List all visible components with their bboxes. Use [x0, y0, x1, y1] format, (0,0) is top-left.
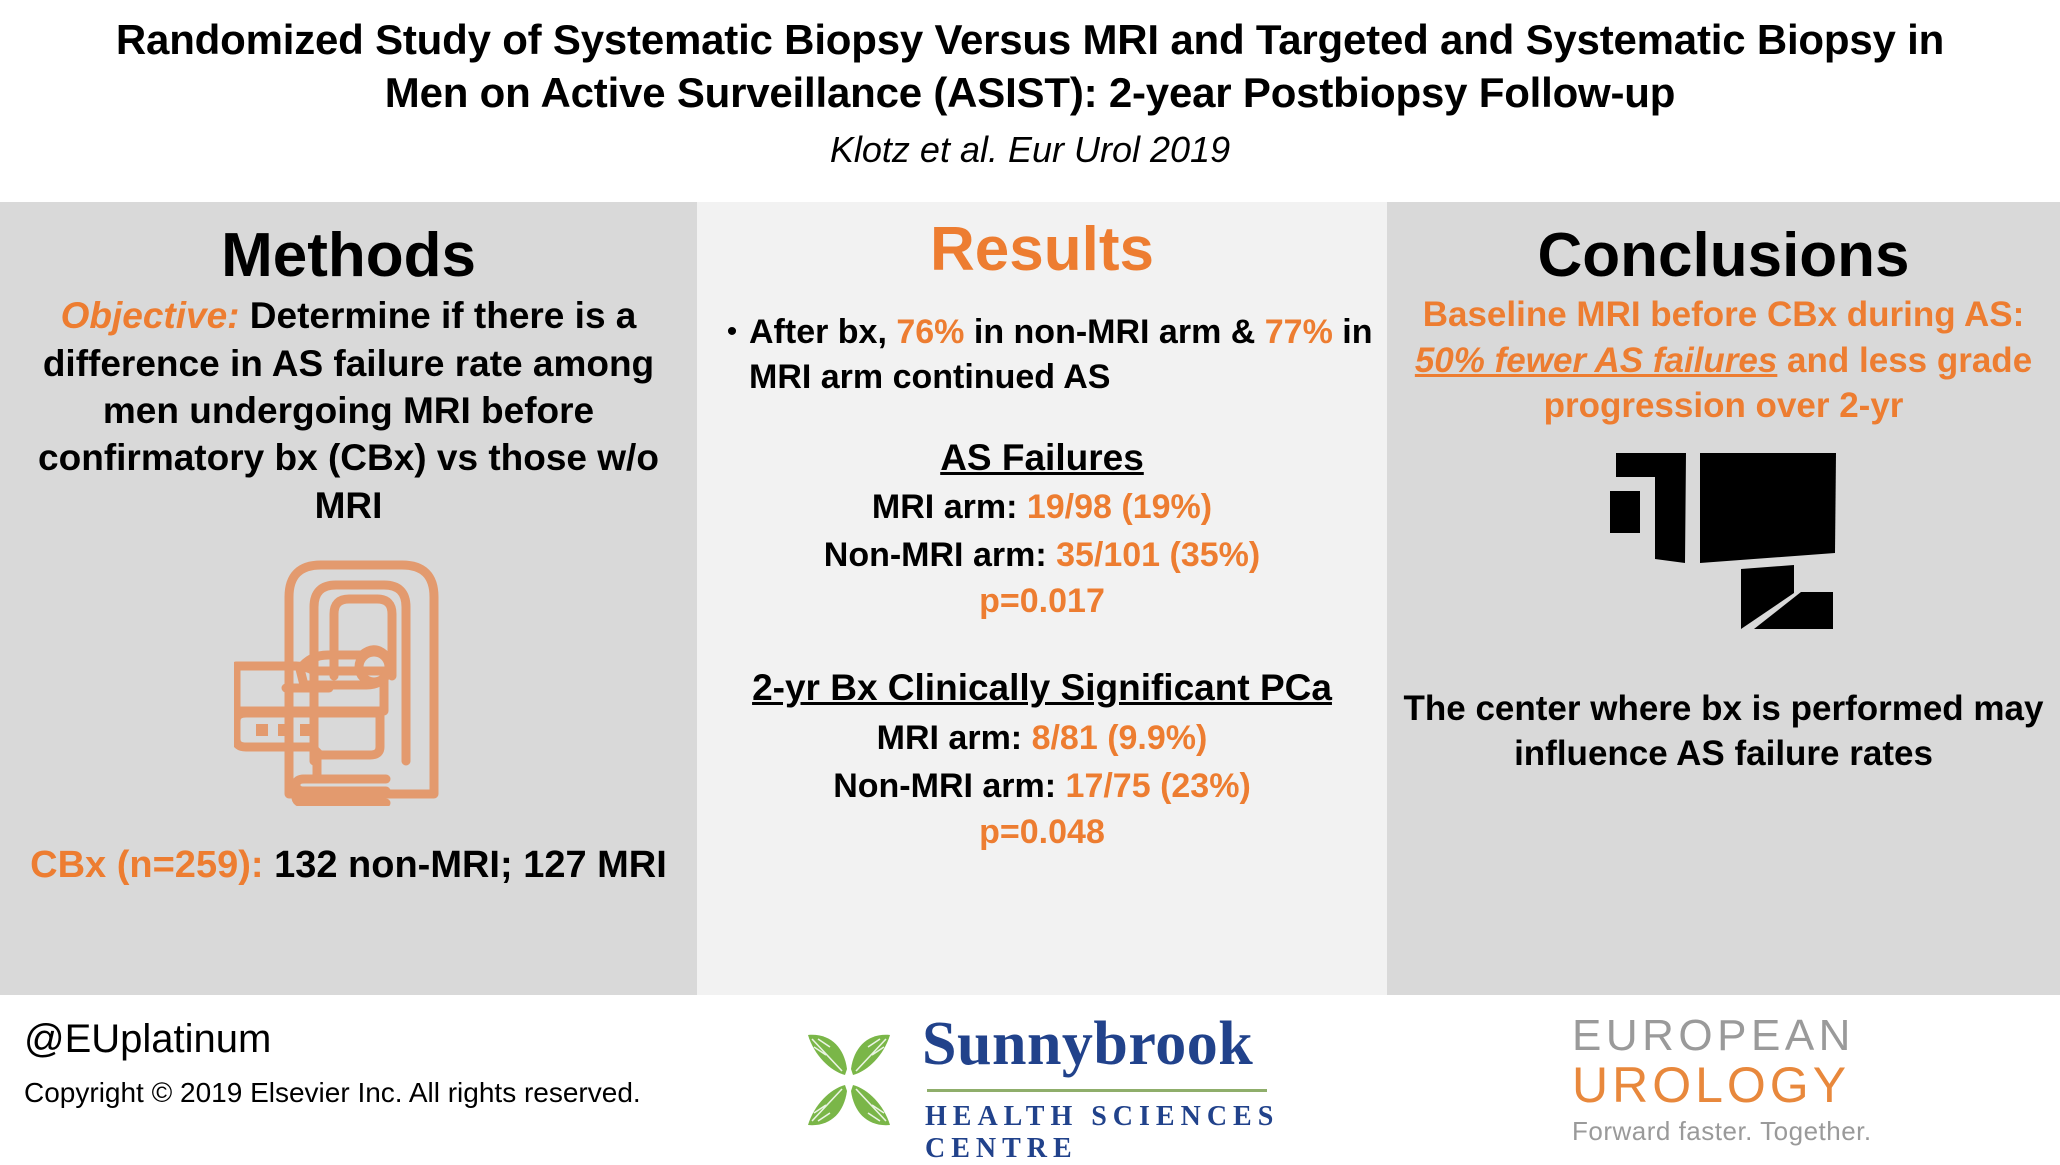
table-row: Non-MRI arm: 35/101 (35%): [707, 533, 1377, 577]
mri-scanner-icon: [234, 551, 464, 806]
methods-objective: Objective: Determine if there is a diffe…: [14, 292, 683, 529]
results-stat-76: 76%: [896, 313, 964, 351]
sunnybrook-divider: [927, 1089, 1267, 1092]
results-heading: Results: [707, 202, 1377, 284]
table-row: MRI arm: 8/81 (9.9%): [707, 716, 1377, 760]
row-label: Non-MRI arm:: [833, 767, 1065, 805]
row-label: Non-MRI arm:: [824, 536, 1056, 574]
eu-logo-line-urology: UROLOGY: [1572, 1059, 1972, 1112]
sunnybrook-wordmark: Sunnybrook: [922, 1013, 1253, 1075]
results-block-csPCa: 2-yr Bx Clinically Significant PCa MRI a…: [707, 665, 1377, 854]
four-leaf-icon: [790, 1021, 908, 1139]
copyright-text: Copyright © 2019 Elsevier Inc. All right…: [24, 1077, 641, 1109]
sunnybrook-tagline: HEALTH SCIENCES CENTRE: [925, 1101, 1302, 1165]
methods-cbx-summary: CBx (n=259): 132 non-MRI; 127 MRI: [14, 841, 683, 890]
conclusions-lead-part1: Baseline MRI before CBx during AS:: [1423, 295, 2025, 334]
table-row: Non-MRI arm: 17/75 (23%): [707, 764, 1377, 808]
page-citation: Klotz et al. Eur Urol 2019: [0, 130, 2060, 170]
results-column: Results • After bx, 76% in non-MRI arm &…: [697, 202, 1387, 995]
row-value: 8/81 (9.9%): [1032, 719, 1208, 757]
results-bullet-part2: in non-MRI arm &: [964, 313, 1264, 351]
conclusions-lead: Baseline MRI before CBx during AS: 50% f…: [1403, 292, 2044, 429]
eu-logo-line-european: EUROPEAN: [1572, 1013, 1972, 1059]
row-label: MRI arm:: [872, 488, 1027, 526]
page-title-line-2: Men on Active Surveillance (ASIST): 2-ye…: [0, 67, 2060, 120]
conclusions-note: The center where bx is performed may inf…: [1403, 686, 2044, 777]
row-value: 35/101 (35%): [1056, 536, 1260, 574]
abstract-hospital-mark-wrapper: [1403, 451, 2044, 656]
methods-cbx-label: CBx (n=259):: [30, 844, 263, 886]
bullet-dot-icon: •: [715, 310, 749, 350]
results-block-as-failures: AS Failures MRI arm: 19/98 (19%) Non-MRI…: [707, 435, 1377, 624]
results-block-title: 2-yr Bx Clinically Significant PCa: [752, 665, 1332, 711]
results-block-title: AS Failures: [940, 435, 1144, 481]
conclusions-column: Conclusions Baseline MRI before CBx duri…: [1387, 202, 2060, 995]
row-value: 17/75 (23%): [1066, 767, 1251, 805]
methods-column: Methods Objective: Determine if there is…: [0, 202, 697, 995]
footer: @EUplatinum Copyright © 2019 Elsevier In…: [0, 995, 2060, 1156]
abstract-hospital-mark-icon: [1608, 451, 1840, 651]
results-p-value: p=0.017: [707, 579, 1377, 623]
row-value: 19/98 (19%): [1027, 488, 1212, 526]
row-label: MRI arm:: [877, 719, 1032, 757]
results-p-value: p=0.048: [707, 810, 1377, 854]
methods-heading: Methods: [14, 202, 683, 290]
methods-cbx-text: 132 non-MRI; 127 MRI: [264, 844, 667, 886]
conclusions-lead-emphasis: 50% fewer AS failures: [1415, 341, 1777, 380]
page-title-line-1: Randomized Study of Systematic Biopsy Ve…: [0, 14, 2060, 67]
header: Randomized Study of Systematic Biopsy Ve…: [0, 0, 2060, 202]
mri-scanner-icon-wrapper: [14, 551, 683, 811]
table-row: MRI arm: 19/98 (19%): [707, 485, 1377, 529]
social-handle[interactable]: @EUplatinum: [24, 1017, 271, 1062]
eu-logo-tagline: Forward faster. Together.: [1572, 1116, 1972, 1147]
console-indicator-lights: [256, 724, 312, 736]
european-urology-logo: EUROPEAN UROLOGY Forward faster. Togethe…: [1572, 1013, 1972, 1143]
results-bullet-text: After bx, 76% in non-MRI arm & 77% in MR…: [749, 310, 1377, 400]
methods-objective-label: Objective:: [61, 295, 240, 336]
results-bullet-part1: After bx,: [749, 313, 896, 351]
results-bullet-item: • After bx, 76% in non-MRI arm & 77% in …: [707, 310, 1377, 400]
conclusions-heading: Conclusions: [1403, 202, 2044, 290]
three-column-band: Methods Objective: Determine if there is…: [0, 202, 2060, 995]
results-stat-77: 77%: [1265, 313, 1333, 351]
sunnybrook-logo: Sunnybrook HEALTH SCIENCES CENTRE: [782, 1009, 1302, 1144]
